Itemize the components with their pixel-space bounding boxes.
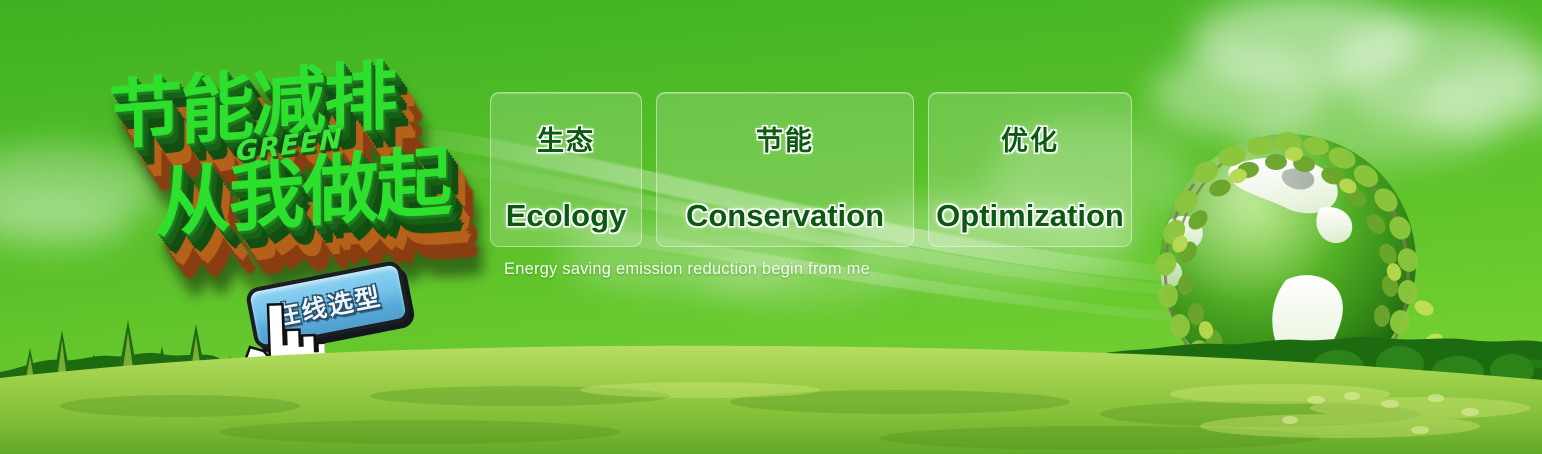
feature-card-conservation[interactable]: 节能 Conservation bbox=[656, 92, 914, 247]
feature-card-optimization[interactable]: 优化 Optimization bbox=[928, 92, 1132, 247]
feature-card-en-label: Conservation bbox=[686, 198, 884, 234]
feature-card-en-label: Ecology bbox=[506, 198, 627, 234]
feature-card-group: 生态 Ecology 节能 Conservation 优化 Optimizati… bbox=[490, 92, 1132, 247]
feature-card-cn-label: 优化 bbox=[1001, 119, 1059, 158]
grass-field bbox=[0, 334, 1542, 454]
feature-card-cn-label: 节能 bbox=[756, 119, 814, 158]
banner-tagline: Energy saving emission reduction begin f… bbox=[504, 260, 870, 279]
cloud-icon bbox=[1330, 16, 1542, 126]
feature-card-en-label: Optimization bbox=[936, 198, 1124, 234]
cloud-icon bbox=[1190, 0, 1420, 90]
feature-card-cn-label: 生态 bbox=[537, 119, 595, 158]
hero-3d-logo: 节能减排 GREEN 从我做起 bbox=[88, 22, 494, 280]
eco-promo-banner: 节能减排 GREEN 从我做起 生态 Ecology 节能 Conservati… bbox=[0, 0, 1542, 454]
feature-card-ecology[interactable]: 生态 Ecology bbox=[490, 92, 642, 247]
